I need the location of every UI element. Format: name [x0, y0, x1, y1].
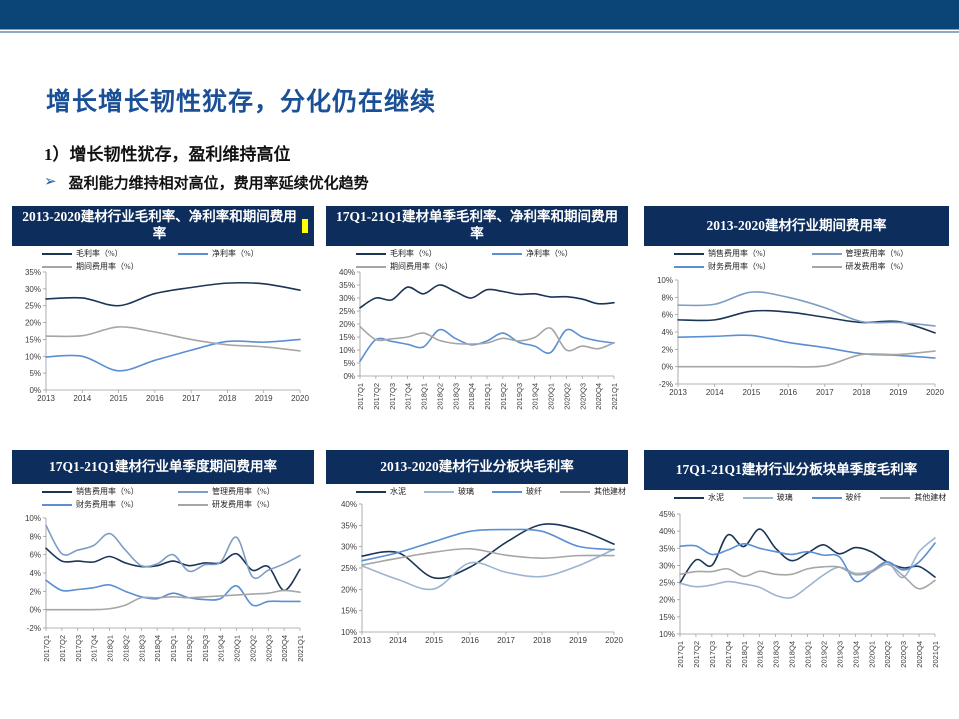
bullet-point: ➢ 盈利能力维持相对高位，费用率延续优化趋势 [44, 172, 369, 193]
y-axis-tick-label: 2% [29, 587, 41, 596]
chart-panel-gross-net-expense-annual: 2013-2020建材行业毛利率、净利率和期间费用率 毛利率（%）净利率（%）期… [12, 206, 314, 414]
y-axis-tick-label: 5% [343, 359, 355, 368]
x-axis-tick-label: 2017Q3 [708, 641, 717, 668]
x-axis-tick-label: 2015 [743, 388, 761, 397]
x-axis-tick-label: 2017Q4 [90, 635, 99, 662]
x-axis-tick-label: 2017 [182, 394, 200, 403]
x-axis-tick-label: 2020 [605, 636, 623, 645]
arrow-bullet-icon: ➢ [44, 174, 57, 189]
y-axis-tick-label: 25% [341, 564, 357, 573]
series-line [360, 329, 614, 361]
series-line [680, 529, 935, 583]
y-axis-tick-label: 25% [25, 302, 41, 311]
y-axis-tick-label: 2% [661, 345, 673, 354]
x-axis-tick-label: 2020 [291, 394, 309, 403]
x-axis-tick-label: 2020Q4 [280, 635, 289, 662]
x-axis-tick-label: 2018Q4 [153, 635, 162, 662]
x-axis-tick-label: 2019 [569, 636, 587, 645]
chart-panel-gross-net-expense-quarterly: 17Q1-21Q1建材单季毛利率、净利率和期间费用率 毛利率（%）净利率（%）期… [326, 206, 628, 426]
y-axis-tick-label: 8% [661, 293, 673, 302]
y-axis-tick-label: 40% [339, 268, 355, 277]
y-axis-tick-label: 10% [25, 352, 41, 361]
x-axis-tick-label: 2018Q1 [740, 641, 749, 668]
x-axis-tick-label: 2018Q2 [756, 641, 765, 668]
chart-body-0: 毛利率（%）净利率（%）期间费用率（%）35%30%25%20%15%10%5%… [12, 246, 314, 414]
x-axis-tick-label: 2019Q1 [483, 383, 492, 410]
chart-header-text: 17Q1-21Q1建材行业单季度期间费用率 [49, 459, 277, 476]
x-axis-tick-label: 2020Q3 [899, 641, 908, 668]
chart-header-chart-gross-net-expense-annual: 2013-2020建材行业毛利率、净利率和期间费用率 [12, 206, 314, 246]
x-axis-tick-label: 2020 [926, 388, 944, 397]
x-axis-tick-label: 2019Q4 [217, 635, 226, 662]
text-cursor-caret [302, 219, 308, 233]
series-line [362, 549, 614, 565]
x-axis-tick-label: 2014 [706, 388, 724, 397]
y-axis-tick-label: 45% [659, 510, 675, 519]
x-axis-tick-label: 2019Q4 [531, 383, 540, 410]
y-axis-tick-label: 0% [343, 372, 355, 381]
chart-plot-chart-expense-breakdown-quarterly: 10%8%6%4%2%0%-2%2017Q12017Q22017Q32017Q4… [12, 484, 314, 676]
x-axis-tick-label: 2018Q3 [137, 635, 146, 662]
y-axis-tick-label: 15% [659, 613, 675, 622]
x-axis-tick-label: 2020Q4 [594, 383, 603, 410]
y-axis-tick-label: 30% [25, 285, 41, 294]
chart-plot-chart-sector-gross-quarterly: 45%40%35%30%25%20%15%10%2017Q12017Q22017… [644, 490, 949, 676]
x-axis-tick-label: 2021Q1 [610, 383, 619, 410]
x-axis-tick-label: 2018Q2 [435, 383, 444, 410]
x-axis-tick-label: 2020Q2 [883, 641, 892, 668]
y-axis-tick-label: 4% [29, 569, 41, 578]
y-axis-tick-label: 35% [25, 268, 41, 277]
x-axis-tick-label: 2021Q1 [931, 641, 940, 668]
y-axis-tick-label: 30% [339, 294, 355, 303]
x-axis-tick-label: 2017Q4 [724, 641, 733, 668]
x-axis-tick-label: 2019Q2 [499, 383, 508, 410]
chart-panel-sector-gross-annual: 2013-2020建材行业分板块毛利率 水泥玻璃玻纤其他建材40%35%30%2… [326, 450, 628, 676]
x-axis-tick-label: 2016 [461, 636, 479, 645]
x-axis-tick-label: 2018 [219, 394, 237, 403]
top-rule-line [0, 31, 959, 33]
page-title: 增长增长韧性犹存，分化仍在继续 [46, 82, 436, 118]
y-axis-tick-label: 4% [661, 328, 673, 337]
x-axis-tick-label: 2018 [853, 388, 871, 397]
chart-header-chart-expense-breakdown-annual: 2013-2020建材行业期间费用率 [644, 206, 949, 246]
x-axis-tick-label: 2017Q4 [404, 383, 413, 410]
chart-header-text: 2013-2020建材行业期间费用率 [707, 218, 887, 235]
y-axis-tick-label: 10% [25, 514, 41, 523]
x-axis-tick-label: 2019Q2 [185, 635, 194, 662]
x-axis-tick-label: 2017 [816, 388, 834, 397]
x-axis-tick-label: 2020Q2 [562, 383, 571, 410]
x-axis-tick-label: 2019Q3 [201, 635, 210, 662]
x-axis-tick-label: 2018Q3 [451, 383, 460, 410]
x-axis-tick-label: 2015 [110, 394, 128, 403]
y-axis-tick-label: 6% [29, 551, 41, 560]
x-axis-tick-label: 2017 [497, 636, 515, 645]
x-axis-tick-label: 2018Q3 [772, 641, 781, 668]
chart-body-3: 销售费用率（%）管理费用率（%）财务费用率（%）研发费用率（%）10%8%6%4… [12, 484, 314, 676]
y-axis-tick-label: -2% [27, 624, 41, 633]
y-axis-tick-label: 30% [341, 543, 357, 552]
y-axis-tick-label: 40% [659, 527, 675, 536]
chart-header-chart-sector-gross-quarterly: 17Q1-21Q1建材行业分板块单季度毛利率 [644, 450, 949, 490]
x-axis-tick-label: 2015 [425, 636, 443, 645]
chart-header-chart-expense-breakdown-quarterly: 17Q1-21Q1建材行业单季度期间费用率 [12, 450, 314, 484]
x-axis-tick-label: 2017Q2 [58, 635, 67, 662]
chart-header-chart-sector-gross-annual: 2013-2020建材行业分板块毛利率 [326, 450, 628, 484]
x-axis-tick-label: 2013 [37, 394, 55, 403]
chart-plot-chart-gross-net-expense-quarterly: 40%35%30%25%20%15%10%5%0%2017Q12017Q2201… [326, 246, 628, 426]
series-line [46, 339, 300, 370]
x-axis-tick-label: 2019 [255, 394, 273, 403]
x-axis-tick-label: 2017Q3 [388, 383, 397, 410]
x-axis-tick-label: 2016 [146, 394, 164, 403]
y-axis-tick-label: 10% [339, 346, 355, 355]
x-axis-tick-label: 2020Q1 [867, 641, 876, 668]
y-axis-tick-label: 10% [659, 630, 675, 639]
x-axis-tick-label: 2018Q1 [106, 635, 115, 662]
chart-plot-chart-expense-breakdown-annual: 10%8%6%4%2%0%-2%201320142015201620172018… [644, 246, 949, 414]
y-axis-tick-label: 35% [339, 281, 355, 290]
chart-header-chart-gross-net-expense-quarterly: 17Q1-21Q1建材单季毛利率、净利率和期间费用率 [326, 206, 628, 246]
x-axis-tick-label: 2020Q3 [578, 383, 587, 410]
x-axis-tick-label: 2018Q4 [788, 641, 797, 668]
series-line [360, 327, 614, 351]
y-axis-tick-label: 35% [659, 544, 675, 553]
chart-body-4: 水泥玻璃玻纤其他建材40%35%30%25%20%15%10%201320142… [326, 484, 628, 676]
series-line [46, 283, 300, 306]
series-line [46, 327, 300, 351]
section-subtitle: 1）增长韧性犹存，盈利维持高位 [44, 140, 291, 165]
x-axis-tick-label: 2019Q1 [169, 635, 178, 662]
chart-body-1: 毛利率（%）净利率（%）期间费用率（%）40%35%30%25%20%15%10… [326, 246, 628, 426]
x-axis-tick-label: 2019Q2 [819, 641, 828, 668]
x-axis-tick-label: 2014 [73, 394, 91, 403]
chart-body-2: 销售费用率（%）管理费用率（%）财务费用率（%）研发费用率（%）10%8%6%4… [644, 246, 949, 414]
series-line [680, 564, 935, 588]
y-axis-tick-label: 8% [29, 532, 41, 541]
y-axis-tick-label: 35% [341, 521, 357, 530]
y-axis-tick-label: 0% [29, 606, 41, 615]
series-line [360, 285, 614, 308]
y-axis-tick-label: 40% [341, 500, 357, 509]
chart-header-text: 17Q1-21Q1建材单季毛利率、净利率和期间费用率 [332, 209, 622, 243]
x-axis-tick-label: 2019 [889, 388, 907, 397]
x-axis-tick-label: 2021Q1 [296, 635, 305, 662]
x-axis-tick-label: 2019Q3 [835, 641, 844, 668]
x-axis-tick-label: 2018Q1 [420, 383, 429, 410]
y-axis-tick-label: 0% [661, 363, 673, 372]
x-axis-tick-label: 2017Q1 [42, 635, 51, 662]
x-axis-tick-label: 2016 [779, 388, 797, 397]
x-axis-tick-label: 2017Q1 [676, 641, 685, 668]
bullet-point-text: 盈利能力维持相对高位，费用率延续优化趋势 [69, 172, 369, 193]
x-axis-tick-label: 2017Q2 [692, 641, 701, 668]
y-axis-tick-label: 30% [659, 561, 675, 570]
x-axis-tick-label: 2019Q3 [515, 383, 524, 410]
chart-panel-expense-breakdown-annual: 2013-2020建材行业期间费用率 销售费用率（%）管理费用率（%）财务费用率… [644, 206, 949, 414]
y-axis-tick-label: 10% [657, 276, 673, 285]
chart-header-text: 17Q1-21Q1建材行业分板块单季度毛利率 [676, 462, 918, 479]
x-axis-tick-label: 2017Q2 [372, 383, 381, 410]
x-axis-tick-label: 2018Q2 [121, 635, 130, 662]
chart-body-5: 水泥玻璃玻纤其他建材45%40%35%30%25%20%15%10%2017Q1… [644, 490, 949, 676]
y-axis-tick-label: 15% [341, 607, 357, 616]
chart-header-text: 2013-2020建材行业毛利率、净利率和期间费用率 [18, 209, 301, 243]
x-axis-tick-label: 2017Q1 [356, 383, 365, 410]
series-line [46, 525, 300, 578]
x-axis-tick-label: 2013 [669, 388, 687, 397]
chart-panel-sector-gross-quarterly: 17Q1-21Q1建材行业分板块单季度毛利率 水泥玻璃玻纤其他建材45%40%3… [644, 450, 949, 676]
chart-plot-chart-gross-net-expense-annual: 35%30%25%20%15%10%5%0%201320142015201620… [12, 246, 314, 414]
y-axis-tick-label: 5% [29, 369, 41, 378]
chart-plot-chart-sector-gross-annual: 40%35%30%25%20%15%10%2013201420152016201… [326, 484, 628, 676]
x-axis-tick-label: 2020Q1 [233, 635, 242, 662]
x-axis-tick-label: 2018Q4 [467, 383, 476, 410]
y-axis-tick-label: 25% [659, 579, 675, 588]
y-axis-tick-label: 20% [25, 319, 41, 328]
chart-panel-expense-breakdown-quarterly: 17Q1-21Q1建材行业单季度期间费用率 销售费用率（%）管理费用率（%）财务… [12, 450, 314, 676]
x-axis-tick-label: 2014 [389, 636, 407, 645]
y-axis-tick-label: 20% [659, 596, 675, 605]
x-axis-tick-label: 2020Q4 [915, 641, 924, 668]
y-axis-tick-label: 6% [661, 311, 673, 320]
x-axis-tick-label: 2020Q1 [547, 383, 556, 410]
series-line [678, 351, 935, 367]
x-axis-tick-label: 2019Q1 [804, 641, 813, 668]
y-axis-tick-label: 15% [339, 333, 355, 342]
x-axis-tick-label: 2013 [353, 636, 371, 645]
x-axis-tick-label: 2019Q4 [851, 641, 860, 668]
y-axis-tick-label: 20% [341, 585, 357, 594]
y-axis-tick-label: 15% [25, 335, 41, 344]
x-axis-tick-label: 2018 [533, 636, 551, 645]
x-axis-tick-label: 2017Q3 [74, 635, 83, 662]
top-decorative-bar [0, 0, 959, 30]
x-axis-tick-label: 2020Q3 [264, 635, 273, 662]
x-axis-tick-label: 2020Q2 [248, 635, 257, 662]
series-line [680, 543, 935, 582]
chart-header-text: 2013-2020建材行业分板块毛利率 [380, 459, 574, 476]
y-axis-tick-label: 25% [339, 307, 355, 316]
y-axis-tick-label: 20% [339, 320, 355, 329]
